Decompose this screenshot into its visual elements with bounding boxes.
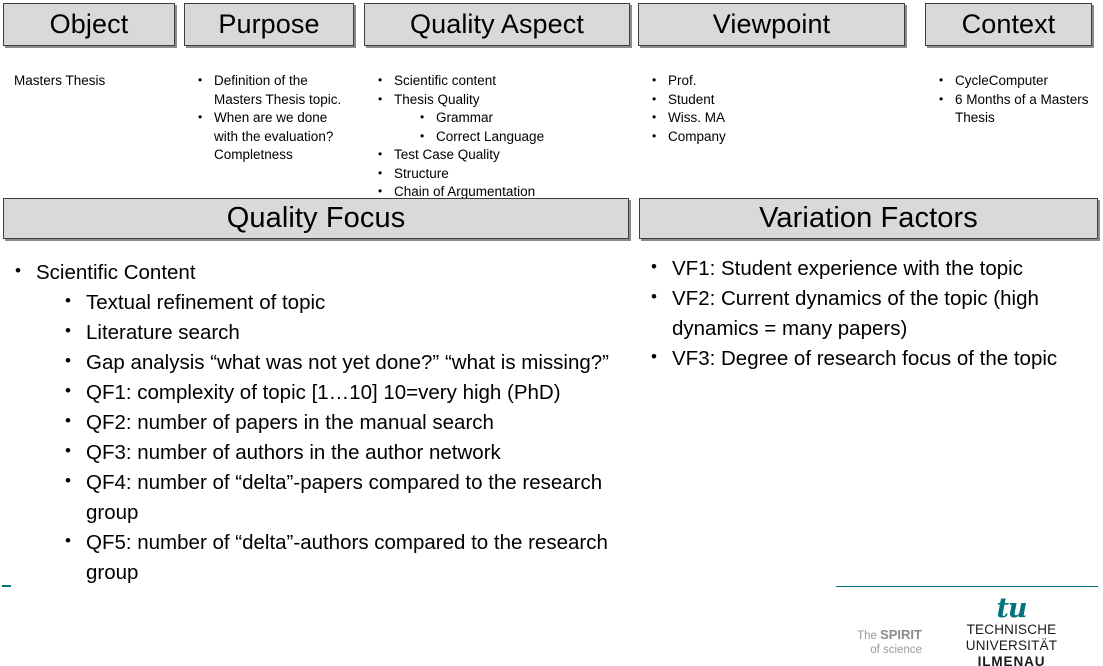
list-item: When are we done with the evaluation? Co… (196, 109, 354, 165)
header-box-object[interactable]: Object (3, 3, 175, 46)
quality-focus-body: Scientific Content Textual refinement of… (12, 258, 626, 588)
list-item: Thesis Quality (376, 91, 626, 110)
list-item: Correct Language (418, 128, 626, 147)
list-item: Definition of the Masters Thesis topic. (196, 72, 354, 109)
spirit-of-science-label: of science (838, 644, 922, 658)
object-plain-text: Masters Thesis (14, 72, 164, 91)
tu-ilmenau-logo: tu TECHNISCHE UNIVERSITÄT ILMENAU (925, 596, 1098, 666)
header-label-viewpoint: Viewpoint (713, 11, 830, 38)
header-label-object: Object (50, 11, 129, 38)
header-label-context: Context (962, 11, 1056, 38)
list-item: Grammar (418, 109, 626, 128)
column-body-purpose: Definition of the Masters Thesis topic. … (196, 72, 354, 165)
list-item: 6 Months of a Masters Thesis (937, 91, 1092, 128)
list-item: Scientific content (376, 72, 626, 91)
variation-factors-body: VF1: Student experience with the topic V… (648, 254, 1088, 374)
header-label-purpose: Purpose (218, 11, 319, 38)
header-box-quality-aspect[interactable]: Quality Aspect (364, 3, 630, 46)
header-label-quality-focus: Quality Focus (227, 204, 406, 233)
spirit-word: SPIRIT (880, 627, 922, 642)
quality-aspect-sublist: Grammar Correct Language (418, 109, 626, 146)
list-item: Test Case Quality (376, 146, 626, 165)
header-box-purpose[interactable]: Purpose (184, 3, 354, 46)
list-item: QF1: complexity of topic [1…10] 10=very … (62, 378, 626, 408)
list-item: QF2: number of papers in the manual sear… (62, 408, 626, 438)
list-item: Literature search (62, 318, 626, 348)
tu-university-label: TECHNISCHE UNIVERSITÄT (925, 622, 1098, 654)
header-box-quality-focus[interactable]: Quality Focus (3, 198, 629, 239)
list-item: QF4: number of “delta”-papers compared t… (62, 468, 626, 528)
list-item: VF3: Degree of research focus of the top… (648, 344, 1088, 374)
spirit-the-label: The (857, 630, 880, 642)
header-box-variation-factors[interactable]: Variation Factors (639, 198, 1098, 239)
variation-factors-list: VF1: Student experience with the topic V… (648, 254, 1088, 374)
list-item: QF3: number of authors in the author net… (62, 438, 626, 468)
list-item: VF1: Student experience with the topic (648, 254, 1088, 284)
list-item: Scientific Content (12, 258, 626, 288)
header-label-quality-aspect: Quality Aspect (410, 11, 584, 38)
list-item: Company (650, 128, 890, 147)
list-item: Textual refinement of topic (62, 288, 626, 318)
header-box-viewpoint[interactable]: Viewpoint (638, 3, 905, 46)
list-item: Gap analysis “what was not yet done?” “w… (62, 348, 626, 378)
header-box-context[interactable]: Context (925, 3, 1092, 46)
list-item: CycleComputer (937, 72, 1092, 91)
spirit-of-science-logo: The SPIRIT of science (838, 628, 922, 657)
column-body-viewpoint: Prof. Student Wiss. MA Company (650, 72, 890, 146)
context-list: CycleComputer 6 Months of a Masters Thes… (937, 72, 1092, 128)
list-item: QF5: number of “delta”-authors compared … (62, 528, 626, 588)
quality-focus-list: Scientific Content (12, 258, 626, 288)
quality-focus-sublist: Textual refinement of topic Literature s… (62, 288, 626, 588)
purpose-list: Definition of the Masters Thesis topic. … (196, 72, 354, 165)
viewpoint-list: Prof. Student Wiss. MA Company (650, 72, 890, 146)
slide-canvas: Object Purpose Quality Aspect Viewpoint … (0, 0, 1103, 666)
column-body-context: CycleComputer 6 Months of a Masters Thes… (937, 72, 1092, 128)
list-item: Wiss. MA (650, 109, 890, 128)
list-item: Student (650, 91, 890, 110)
header-label-variation-factors: Variation Factors (759, 204, 978, 233)
left-edge-tick-mark (2, 585, 11, 587)
column-body-object: Masters Thesis (14, 72, 164, 91)
list-item: VF2: Current dynamics of the topic (high… (648, 284, 1088, 344)
list-item: Prof. (650, 72, 890, 91)
tu-city-label: ILMENAU (925, 654, 1098, 666)
quality-aspect-list: Scientific content Thesis Quality (376, 72, 626, 109)
list-item: Structure (376, 165, 626, 184)
footer-divider-rule (836, 586, 1098, 587)
tu-monogram-icon: tu (925, 596, 1098, 622)
